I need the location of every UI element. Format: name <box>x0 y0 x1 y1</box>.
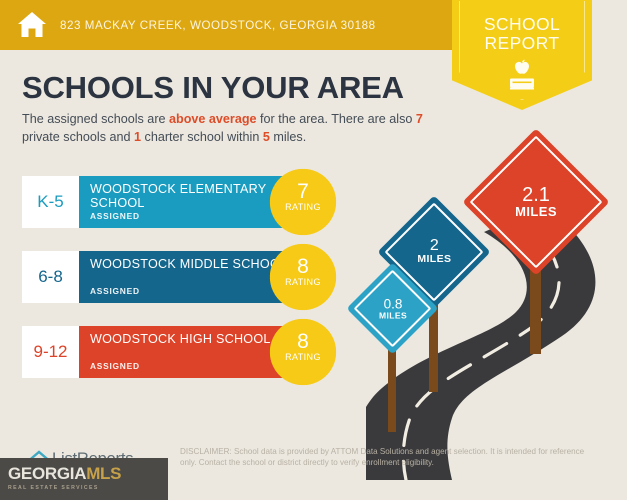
summary-highlight-rating: above average <box>169 112 257 126</box>
georgia-mls-name: GEORGIAMLS <box>8 464 168 484</box>
school-status-label: ASSIGNED <box>90 361 140 371</box>
school-rating-badge: 8 RATING <box>270 244 336 310</box>
banner-title-line1: SCHOOL <box>452 15 592 34</box>
school-grade-box: 9-12 <box>22 326 79 378</box>
sign-distance-unit: MILES <box>417 255 451 266</box>
school-status-label: ASSIGNED <box>90 286 140 296</box>
school-rating-caption: RATING <box>270 202 336 212</box>
summary-part-4: charter school within <box>141 130 263 144</box>
summary-part-1: The assigned schools are <box>22 112 169 126</box>
summary-part-2: for the area. There are also <box>257 112 416 126</box>
school-name: WOODSTOCK MIDDLE SCHOOL <box>90 257 290 271</box>
school-row[interactable]: 9-12 WOODSTOCK HIGH SCHOOL ASSIGNED 8 RA… <box>22 326 290 378</box>
school-name: WOODSTOCK ELEMENTARY SCHOOL <box>90 182 290 211</box>
school-row[interactable]: 6-8 WOODSTOCK MIDDLE SCHOOL ASSIGNED 8 R… <box>22 251 290 303</box>
georgia-mls-watermark: GEORGIAMLS REAL ESTATE SERVICES <box>0 458 168 500</box>
school-rating-value: 8 <box>270 319 336 352</box>
school-rating-caption: RATING <box>270 352 336 362</box>
sign-text: 0.8 MILES <box>379 297 407 319</box>
house-icon <box>17 11 47 39</box>
sign-distance-value: 2.1 <box>515 185 557 205</box>
school-rating-value: 7 <box>270 169 336 202</box>
sign-distance-value: 2 <box>417 238 451 254</box>
school-status-label: ASSIGNED <box>90 211 140 221</box>
school-name: WOODSTOCK HIGH SCHOOL <box>90 332 290 346</box>
georgia-mls-georgia: GEORGIA <box>8 464 86 483</box>
school-grade-label: 6-8 <box>38 267 63 287</box>
disclaimer-text: DISCLAIMER: School data is provided by A… <box>180 446 595 468</box>
school-grade-box: K-5 <box>22 176 79 228</box>
sign-distance-value: 0.8 <box>379 297 407 311</box>
school-row[interactable]: K-5 WOODSTOCK ELEMENTARY SCHOOL ASSIGNED… <box>22 176 290 228</box>
school-rating-caption: RATING <box>270 277 336 287</box>
georgia-mls-suffix: MLS <box>86 464 121 483</box>
sign-distance-unit: MILES <box>379 311 407 320</box>
school-bar: WOODSTOCK MIDDLE SCHOOL ASSIGNED <box>79 251 290 303</box>
sign-distance-unit: MILES <box>515 206 557 219</box>
school-bar: WOODSTOCK ELEMENTARY SCHOOL ASSIGNED <box>79 176 290 228</box>
page-title: SCHOOLS IN YOUR AREA <box>22 70 404 106</box>
school-grade-label: 9-12 <box>33 342 67 362</box>
school-grade-label: K-5 <box>37 192 63 212</box>
summary-part-3: private schools and <box>22 130 134 144</box>
header-address-bar: 823 MACKAY CREEK, WOODSTOCK, GEORGIA 301… <box>0 0 452 50</box>
sign-text: 2 MILES <box>417 238 451 265</box>
school-rating-badge: 7 RATING <box>270 169 336 235</box>
georgia-mls-tagline: REAL ESTATE SERVICES <box>8 485 168 491</box>
summary-text: The assigned schools are above average f… <box>22 111 440 146</box>
school-rating-badge: 8 RATING <box>270 319 336 385</box>
summary-highlight-radius: 5 <box>263 130 270 144</box>
road-illustration: 2.1 MILES 2 MILES 0.8 MILES <box>366 150 627 480</box>
banner-title-line2: REPORT <box>452 34 592 53</box>
school-bar: WOODSTOCK HIGH SCHOOL ASSIGNED <box>79 326 290 378</box>
summary-part-5: miles. <box>270 130 306 144</box>
school-grade-box: 6-8 <box>22 251 79 303</box>
banner-title: SCHOOL REPORT <box>452 0 592 53</box>
property-address: 823 MACKAY CREEK, WOODSTOCK, GEORGIA 301… <box>60 19 376 32</box>
school-report-banner: SCHOOL REPORT <box>452 0 592 110</box>
sign-text: 2.1 MILES <box>515 185 557 219</box>
summary-highlight-private-count: 7 <box>416 112 423 126</box>
summary-highlight-charter-count: 1 <box>134 130 141 144</box>
school-rating-value: 8 <box>270 244 336 277</box>
apple-and-book-icon <box>500 56 544 92</box>
